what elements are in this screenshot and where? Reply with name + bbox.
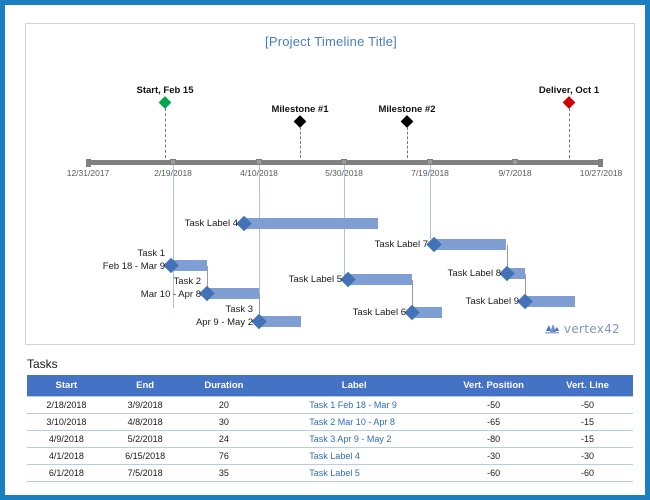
table-cell-vert-position: -80 [445,431,542,448]
screenshot-page: [Project Timeline Title] Start, Feb 15Mi… [0,0,650,500]
task-bar-label: Task Label 4 [185,217,238,230]
column-header-vert-position[interactable]: Vert. Position [445,375,542,397]
tasks-table-body: 2/18/20183/9/201820Task 1 Feb 18 - Mar 9… [27,397,633,482]
task-bar-label: Task Label 9 [466,295,519,308]
column-header-vert-line[interactable]: Vert. Line [542,375,633,397]
axis-cap-right [598,159,603,167]
task-bar[interactable] [244,218,378,229]
table-row[interactable]: 3/10/20184/8/201830Task 2 Mar 10 - Apr 8… [27,414,633,431]
table-cell-start: 3/10/2018 [27,414,106,431]
chart-title: [Project Timeline Title] [26,34,636,49]
milestone-diamond-icon[interactable] [401,115,414,128]
table-cell-end: 3/9/2018 [106,397,185,414]
table-cell-label: Task Label 5 [263,465,445,482]
table-cell-vert-position: -50 [445,397,542,414]
timeline-chart-panel: [Project Timeline Title] Start, Feb 15Mi… [25,23,635,345]
task-bar[interactable] [348,274,412,285]
table-cell-vert-line: -15 [542,414,633,431]
task-bar[interactable] [434,239,506,250]
table-cell-start: 4/9/2018 [27,431,106,448]
milestone-label: Start, Feb 15 [136,85,193,96]
task-bar-label-line: Apr 9 - May 2 [196,316,253,329]
task-bar-label-line: Task Label 8 [448,267,501,280]
milestone-diamond-icon[interactable] [294,115,307,128]
table-cell-vert-position: -30 [445,448,542,465]
tasks-table: Start End Duration Label Vert. Position … [27,375,633,482]
task-bar-label: Task Label 5 [289,273,342,286]
table-cell-duration: 30 [185,414,264,431]
task-connector-line [259,294,260,316]
milestone-label: Deliver, Oct 1 [539,85,599,96]
axis-date-label: 10/27/2018 [580,168,623,178]
milestone-stem [165,108,166,158]
task-bar-label: Task 2Mar 10 - Apr 8 [141,275,201,301]
table-cell-end: 5/2/2018 [106,431,185,448]
milestone-stem [569,108,570,158]
milestone-diamond-icon[interactable] [563,96,576,109]
task-bar[interactable] [207,288,259,299]
task-connector-line [525,274,526,296]
column-header-duration[interactable]: Duration [185,375,264,397]
table-row[interactable]: 4/1/20186/15/201876Task Label 4-30-30 [27,448,633,465]
table-row[interactable]: 6/1/20187/5/201835Task Label 5-60-60 [27,465,633,482]
table-row[interactable]: 2/18/20183/9/201820Task 1 Feb 18 - Mar 9… [27,397,633,414]
task-connector-line [207,266,208,288]
column-header-start[interactable]: Start [27,375,106,397]
table-cell-end: 7/5/2018 [106,465,185,482]
vertex42-logo: vertex42 [544,322,620,336]
table-row[interactable]: 4/9/20185/2/201824Task 3 Apr 9 - May 2-8… [27,431,633,448]
table-cell-duration: 24 [185,431,264,448]
tasks-table-header-row: Start End Duration Label Vert. Position … [27,375,633,397]
task-bar-label-line: Task Label 6 [353,306,406,319]
tasks-heading: Tasks [27,357,58,371]
table-cell-start: 4/1/2018 [27,448,106,465]
task-bar-label-line: Task Label 5 [289,273,342,286]
table-cell-end: 4/8/2018 [106,414,185,431]
vertical-guide-line [430,165,431,239]
task-bar-label-line: Task 3 [196,303,253,316]
milestone-stem [300,127,301,158]
table-cell-end: 6/15/2018 [106,448,185,465]
milestone-label: Milestone #2 [378,104,435,115]
table-cell-duration: 76 [185,448,264,465]
milestone-diamond-icon[interactable] [159,96,172,109]
axis-tick-marker [512,159,518,165]
milestone-label: Milestone #1 [271,104,328,115]
column-header-label[interactable]: Label [263,375,445,397]
vertex42-logo-text: vertex42 [564,322,620,336]
table-cell-start: 2/18/2018 [27,397,106,414]
table-cell-label: Task 2 Mar 10 - Apr 8 [263,414,445,431]
table-cell-start: 6/1/2018 [27,465,106,482]
table-cell-vert-line: -15 [542,431,633,448]
table-cell-vert-line: -60 [542,465,633,482]
task-bar-label-line: Mar 10 - Apr 8 [141,288,201,301]
task-bar-label-line: Task Label 4 [185,217,238,230]
table-cell-label: Task 1 Feb 18 - Mar 9 [263,397,445,414]
milestone-stem [407,127,408,158]
task-bar-label-line: Task Label 9 [466,295,519,308]
table-cell-vert-line: -30 [542,448,633,465]
column-header-end[interactable]: End [106,375,185,397]
task-bar-label-line: Task 1 [103,247,165,260]
table-cell-duration: 35 [185,465,264,482]
task-bar-label-line: Feb 18 - Mar 9 [103,260,165,273]
table-cell-vert-line: -50 [542,397,633,414]
task-connector-line [507,245,508,268]
task-bar-label: Task 1Feb 18 - Mar 9 [103,247,165,273]
tasks-table-head: Start End Duration Label Vert. Position … [27,375,633,397]
axis-date-label: 12/31/2017 [67,168,110,178]
axis-date-label: 9/7/2018 [498,168,531,178]
table-cell-label: Task 3 Apr 9 - May 2 [263,431,445,448]
table-cell-vert-position: -65 [445,414,542,431]
task-bar-label: Task Label 6 [353,306,406,319]
table-cell-duration: 20 [185,397,264,414]
table-cell-vert-position: -60 [445,465,542,482]
axis-cap-left [86,159,91,167]
vertex42-mark-icon [544,322,560,336]
task-bar-label-line: Task 2 [141,275,201,288]
task-connector-line [412,280,413,307]
task-bar-label: Task 3Apr 9 - May 2 [196,303,253,329]
task-bar-label: Task Label 7 [375,238,428,251]
task-bar-label: Task Label 8 [448,267,501,280]
task-bar-label-line: Task Label 7 [375,238,428,251]
table-cell-label: Task Label 4 [263,448,445,465]
